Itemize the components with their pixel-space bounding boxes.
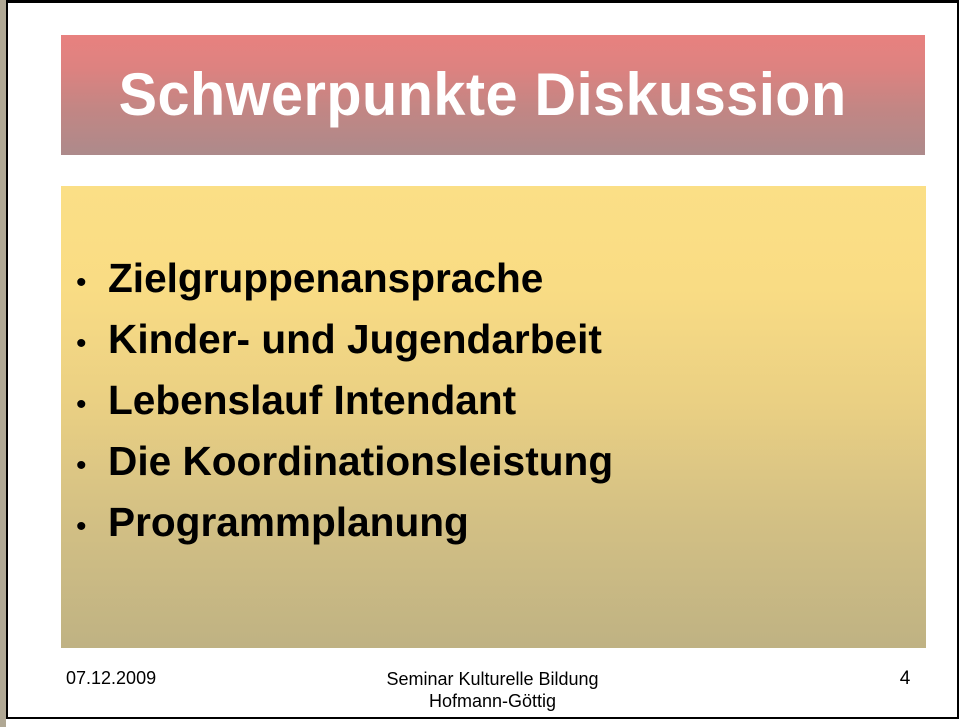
slide-footer: 07.12.2009 Seminar Kulturelle Bildung Ho…	[8, 663, 967, 721]
footer-author-name: Hofmann-Göttig	[8, 690, 969, 712]
list-item-label: Zielgruppenansprache	[108, 248, 543, 309]
bullet-point-icon: •	[76, 313, 108, 374]
list-item-label: Kinder- und Jugendarbeit	[108, 309, 602, 370]
footer-seminar-title: Seminar Kulturelle Bildung	[8, 668, 969, 690]
bullet-point-icon: •	[76, 252, 108, 313]
list-item: • Kinder- und Jugendarbeit	[76, 309, 916, 370]
bullet-point-icon: •	[76, 374, 108, 435]
list-item-label: Die Koordinationsleistung	[108, 431, 613, 492]
bullet-point-icon: •	[76, 496, 108, 557]
page-title: Schwerpunkte Diskussion	[61, 65, 847, 125]
list-item: • Programmplanung	[76, 492, 916, 553]
bullet-list: • Zielgruppenansprache • Kinder- und Jug…	[76, 248, 916, 553]
bullet-point-icon: •	[76, 435, 108, 496]
list-item: • Zielgruppenansprache	[76, 248, 916, 309]
footer-page-number: 4	[888, 668, 922, 690]
list-item: • Die Koordinationsleistung	[76, 431, 916, 492]
slide-frame: Schwerpunkte Diskussion • Zielgruppenans…	[6, 0, 959, 719]
list-item-label: Lebenslauf Intendant	[108, 370, 516, 431]
slide-content-box: • Zielgruppenansprache • Kinder- und Jug…	[61, 186, 926, 648]
slide-title-bar: Schwerpunkte Diskussion	[61, 35, 925, 155]
list-item-label: Programmplanung	[108, 492, 469, 553]
footer-center-text: Seminar Kulturelle Bildung Hofmann-Götti…	[8, 668, 969, 712]
list-item: • Lebenslauf Intendant	[76, 370, 916, 431]
presentation-slide: Schwerpunkte Diskussion • Zielgruppenans…	[0, 0, 969, 727]
